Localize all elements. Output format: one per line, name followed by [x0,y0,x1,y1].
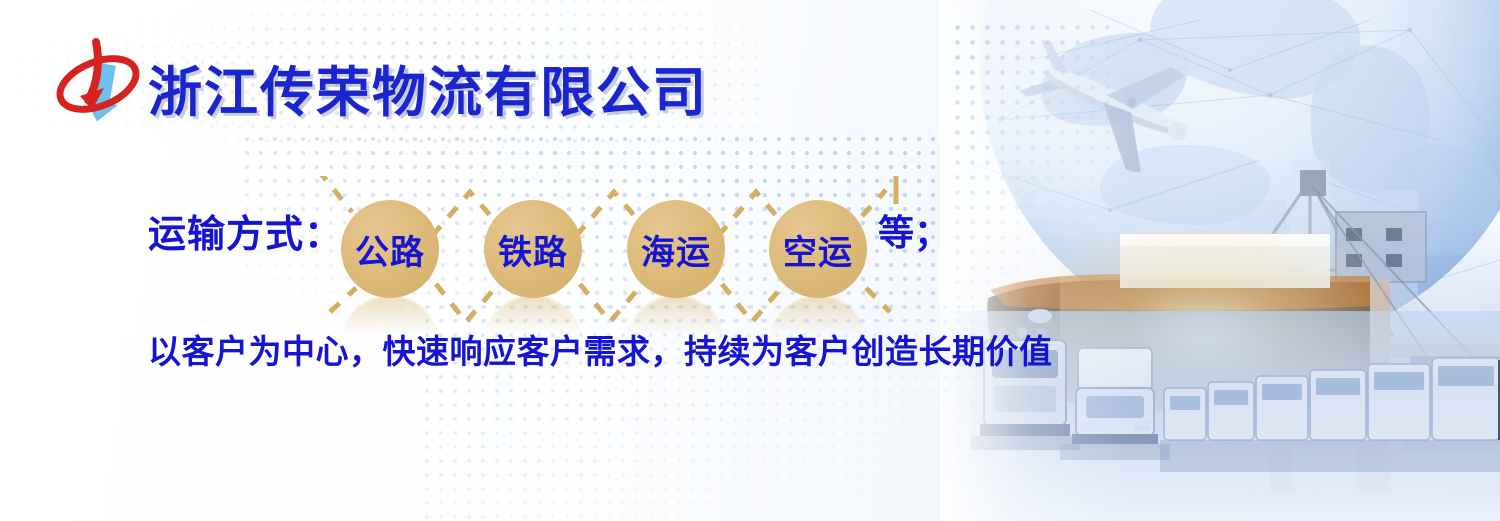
left-fade-mask [940,0,1500,521]
transport-mode-label: 铁路 [498,225,568,274]
transport-mode-sea[interactable]: 海运 [627,200,725,298]
logo-red-orbit [53,42,144,119]
transport-mode-label: 公路 [355,225,425,274]
transport-mode-road[interactable]: 公路 [341,200,439,298]
logistics-composite-photo [940,0,1500,521]
arrow-head-corner [862,176,896,204]
transport-suffix: 等； [878,204,950,256]
orbit-arrow-logo [48,36,148,136]
transport-mode-air[interactable]: 空运 [769,200,867,298]
company-name: 浙江传荣物流有限公司 [148,48,708,127]
tagline: 以客户为中心，快速响应客户需求，持续为客户创造长期价值 [148,325,1053,373]
transport-mode-label: 空运 [783,225,853,274]
transport-mode-label: 海运 [641,225,711,274]
transport-modes-row: 运输方式： 公路 [0,176,980,326]
transport-mode-rail[interactable]: 铁路 [484,200,582,298]
logistics-banner: 浙江传荣物流有限公司 运输方式： [0,0,1500,521]
